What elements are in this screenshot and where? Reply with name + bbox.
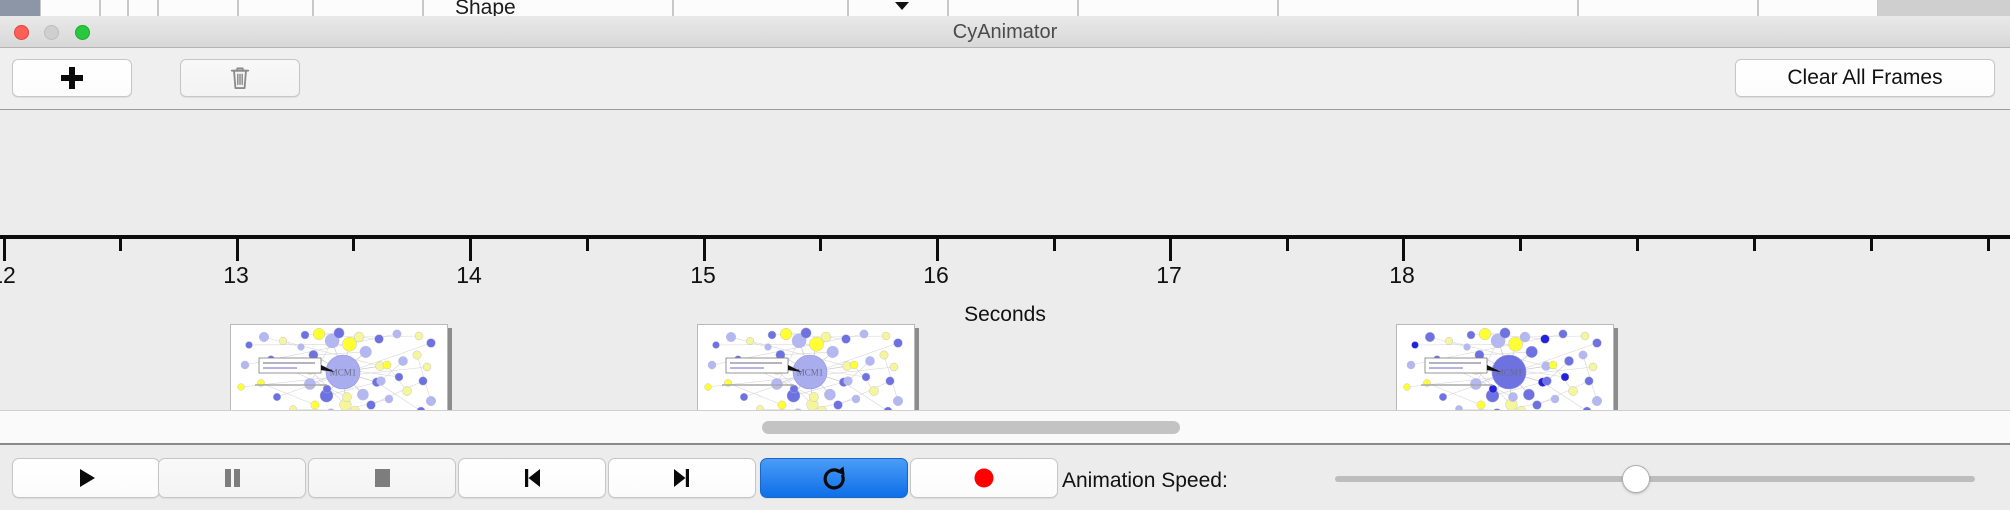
play-button[interactable] — [12, 458, 160, 498]
pause-icon — [219, 465, 245, 491]
clear-all-frames-button[interactable]: Clear All Frames — [1735, 59, 1995, 97]
timeline-frame-thumbnail[interactable]: MCM1 — [1396, 324, 1614, 411]
trash-icon — [229, 65, 251, 91]
ruler-tick-label: 18 — [1389, 262, 1415, 289]
ruler-tick-label: 13 — [223, 262, 249, 289]
horizontal-scrollbar-track[interactable] — [0, 411, 2010, 445]
bg-shape-label: Shape — [455, 0, 516, 16]
ruler-tick-minor — [1053, 239, 1056, 251]
ruler-tick-major — [936, 239, 939, 261]
pause-button[interactable] — [158, 458, 306, 498]
animation-speed-slider-thumb[interactable] — [1622, 465, 1650, 493]
ruler-tick-minor — [1870, 239, 1873, 251]
cyanimator-window: Shape CyAnimator Clear All Frames MCM1MC… — [0, 0, 2010, 510]
horizontal-scrollbar-thumb[interactable] — [762, 421, 1180, 434]
ruler-tick-label: 16 — [923, 262, 949, 289]
ruler-tick-major — [703, 239, 706, 261]
title-bar: CyAnimator — [0, 16, 2010, 48]
timeline-ruler: 12131415161718 Seconds — [0, 235, 2010, 325]
timeline-frame-thumbnail[interactable]: MCM1 — [697, 324, 915, 411]
ruler-tick-minor — [586, 239, 589, 251]
delete-frame-button[interactable] — [180, 59, 300, 97]
svg-text:MCM1: MCM1 — [1496, 368, 1523, 378]
ruler-axis-line — [0, 235, 2010, 239]
record-icon — [971, 465, 997, 491]
loop-icon — [819, 463, 849, 493]
skip-backward-button[interactable] — [458, 458, 606, 498]
ruler-tick-minor — [119, 239, 122, 251]
ruler-tick-major — [1169, 239, 1172, 261]
add-frame-button[interactable] — [12, 59, 132, 97]
loop-button[interactable] — [760, 458, 908, 498]
stop-icon — [369, 465, 395, 491]
record-button[interactable] — [910, 458, 1058, 498]
ruler-tick-major — [236, 239, 239, 261]
plus-icon — [61, 67, 83, 89]
ruler-tick-minor — [1286, 239, 1289, 251]
ruler-tick-minor — [1753, 239, 1756, 251]
skip-backward-icon — [519, 465, 545, 491]
bg-arrow-icon — [895, 2, 909, 10]
animation-speed-label: Animation Speed: — [1062, 469, 1228, 493]
timeline-panel[interactable]: MCM1MCM1MCM1 12131415161718 Seconds — [0, 111, 2010, 411]
ruler-tick-minor — [352, 239, 355, 251]
ruler-tick-major — [3, 239, 6, 261]
ruler-tick-label: 15 — [690, 262, 716, 289]
ruler-tick-major — [469, 239, 472, 261]
axis-title: Seconds — [0, 303, 2010, 327]
skip-forward-icon — [669, 465, 695, 491]
ruler-tick-minor — [819, 239, 822, 251]
timeline-frame-thumbnail[interactable]: MCM1 — [230, 324, 448, 411]
ruler-tick-major — [1402, 239, 1405, 261]
toolbar: Clear All Frames — [0, 48, 2010, 110]
ruler-tick-minor — [1519, 239, 1522, 251]
ruler-tick-minor — [1636, 239, 1639, 251]
animation-speed-slider[interactable] — [1335, 476, 1975, 482]
ruler-tick-label: 14 — [456, 262, 482, 289]
play-icon — [73, 465, 99, 491]
window-title: CyAnimator — [0, 16, 2010, 48]
ruler-tick-label: 12 — [0, 262, 16, 289]
stop-button[interactable] — [308, 458, 456, 498]
ruler-tick-label: 17 — [1156, 262, 1182, 289]
background-app-strip: Shape — [0, 0, 2010, 16]
ruler-tick-minor — [1987, 239, 1990, 251]
skip-forward-button[interactable] — [608, 458, 756, 498]
svg-text:MCM1: MCM1 — [330, 368, 357, 378]
svg-text:MCM1: MCM1 — [797, 368, 824, 378]
playback-controls: Animation Speed: — [0, 445, 2010, 510]
